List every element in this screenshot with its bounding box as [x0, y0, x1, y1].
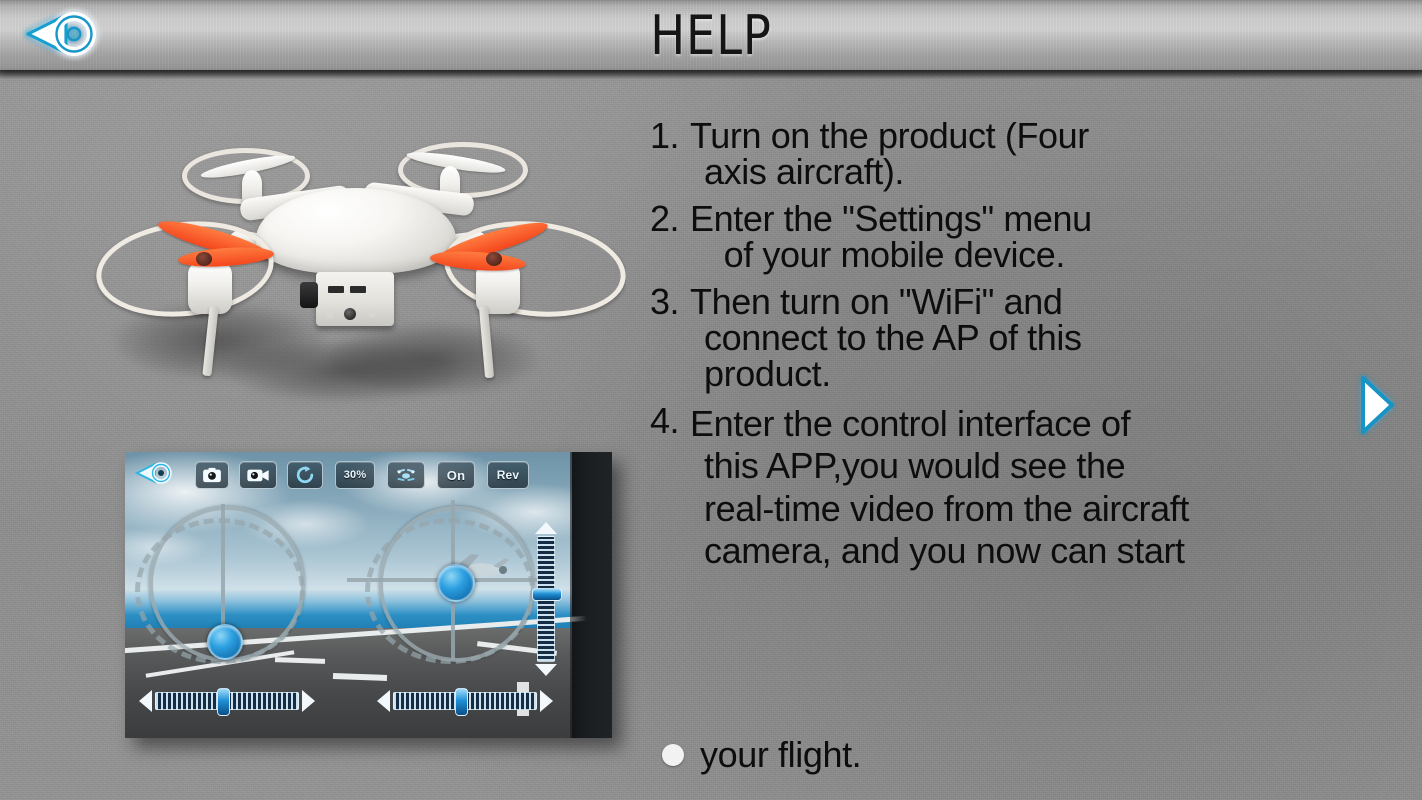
step-body: Then turn on "WiFi" and connect to the A…	[690, 284, 1376, 392]
spacer	[650, 394, 1376, 403]
throttle-down-icon[interactable]	[535, 664, 557, 676]
bullet-dot-icon	[662, 744, 684, 766]
step-line: Then turn on "WiFi" and	[690, 284, 1376, 320]
right-joystick-knob[interactable]	[437, 564, 475, 602]
camera-flip-button[interactable]	[287, 461, 323, 489]
photo-capture-button[interactable]	[195, 461, 229, 489]
next-page-button[interactable]	[1352, 372, 1398, 438]
next-page-triangle-icon	[1352, 372, 1398, 438]
throttle-slider[interactable]	[534, 522, 558, 674]
speed-label: 30%	[344, 469, 367, 481]
step-body: Enter the control interface of this APP,…	[690, 403, 1376, 573]
step-line: axis aircraft).	[690, 154, 1376, 190]
step-line: Turn on the product (Four	[690, 118, 1376, 154]
left-joystick-knob[interactable]	[207, 624, 243, 660]
right-trim-slider[interactable]	[377, 690, 553, 712]
instruction-step: 3. Then turn on "WiFi" and connect to th…	[650, 284, 1376, 392]
help-screen: HELP	[0, 0, 1422, 800]
drone-product-photo	[78, 126, 626, 426]
instruction-bullet-item: your flight.	[650, 737, 861, 773]
step-line: this APP,you would see the	[690, 445, 1376, 487]
right-trim-thumb[interactable]	[455, 688, 468, 716]
title-bar: HELP	[0, 0, 1422, 70]
aircraft-mode-button[interactable]	[387, 461, 425, 489]
reverse-label: Rev	[497, 468, 520, 482]
app-toolbar: 30% On Rev	[125, 452, 572, 496]
step-line: product.	[690, 356, 1376, 392]
instruction-step: 1. Turn on the product (Four axis aircra…	[650, 118, 1376, 190]
app-back-button[interactable]	[133, 458, 181, 488]
rotate-refresh-icon	[295, 465, 315, 485]
step-line: connect to the AP of this	[690, 320, 1376, 356]
step-line: real-time video from the aircraft	[690, 488, 1376, 530]
camera-icon	[202, 467, 222, 483]
right-trim-right-arrow-icon[interactable]	[540, 690, 553, 712]
step-body: Turn on the product (Four axis aircraft)…	[690, 118, 1376, 190]
power-toggle-button[interactable]: On	[437, 461, 475, 489]
throttle-thumb[interactable]	[532, 588, 562, 601]
instruction-step: 2. Enter the "Settings" menu of your mob…	[650, 201, 1376, 273]
step-number: 2.	[650, 201, 690, 273]
page-title: HELP	[100, 0, 1323, 70]
step-body: Enter the "Settings" menu of your mobile…	[690, 201, 1376, 273]
left-joystick[interactable]	[133, 496, 319, 682]
step-line: Enter the control interface of	[690, 403, 1376, 445]
power-label: On	[447, 468, 465, 483]
video-camera-icon	[246, 467, 270, 483]
app-screenshot-panel: 30% On Rev	[125, 452, 612, 738]
bullet-text: your flight.	[700, 737, 861, 773]
screen-edge-shadow	[570, 452, 612, 738]
speed-button[interactable]: 30%	[335, 461, 375, 489]
left-trim-left-arrow-icon[interactable]	[139, 690, 152, 712]
throttle-up-icon[interactable]	[535, 522, 557, 534]
step-line: Enter the "Settings" menu	[690, 201, 1376, 237]
step-line: of your mobile device.	[690, 237, 1376, 273]
step-number: 1.	[650, 118, 690, 190]
left-trim-right-arrow-icon[interactable]	[302, 690, 315, 712]
reverse-button[interactable]: Rev	[487, 461, 529, 489]
back-arrow-circle-icon	[133, 458, 181, 488]
right-trim-left-arrow-icon[interactable]	[377, 690, 390, 712]
video-record-button[interactable]	[239, 461, 277, 489]
left-trim-thumb[interactable]	[217, 688, 230, 716]
right-joystick[interactable]	[363, 496, 549, 682]
step-number: 3.	[650, 284, 690, 392]
step-number: 4.	[650, 403, 690, 573]
back-arrow-circle-icon	[16, 6, 120, 62]
left-trim-slider[interactable]	[139, 690, 315, 712]
quadcopter-icon	[395, 466, 417, 484]
instruction-step: 4. Enter the control interface of this A…	[650, 403, 1376, 573]
instruction-list: 1. Turn on the product (Four axis aircra…	[650, 118, 1376, 575]
step-line: camera, and you now can start	[690, 530, 1376, 572]
back-button[interactable]	[16, 6, 120, 62]
